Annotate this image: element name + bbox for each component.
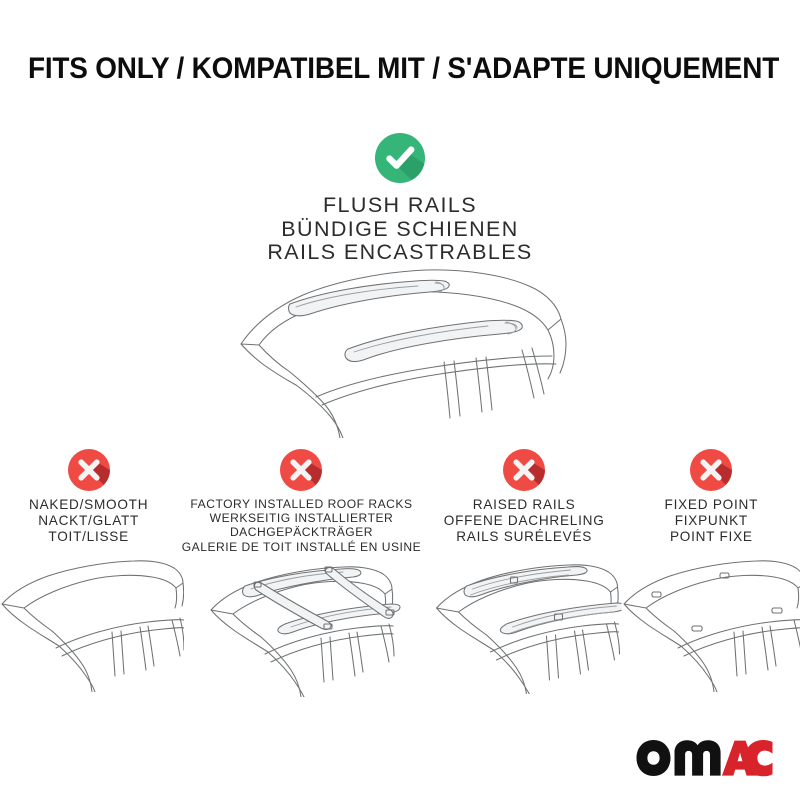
compatible-badge-wrap xyxy=(0,132,800,188)
x-circle-icon xyxy=(279,448,323,492)
incompatible-section: NAKED/SMOOTH NACKT/GLATT TOIT/LISSE xyxy=(0,448,800,698)
label-line: DACHGEPÄCKTRÄGER xyxy=(182,525,421,539)
label-line: RAISED RAILS xyxy=(444,497,605,513)
compatible-label: FLUSH RAILS BÜNDIGE SCHIENEN RAILS ENCAS… xyxy=(0,194,800,265)
incompatible-item-naked-smooth: NAKED/SMOOTH NACKT/GLATT TOIT/LISSE xyxy=(0,448,177,698)
factory-crossbars-roof-illustration xyxy=(201,552,401,697)
label-line: TOIT/LISSE xyxy=(29,529,148,545)
incompatible-item-factory-roof-racks: FACTORY INSTALLED ROOF RACKS WERKSEITIG … xyxy=(177,448,425,698)
bare-roof-illustration xyxy=(0,552,184,692)
label-line: NAKED/SMOOTH xyxy=(29,497,148,513)
x-circle-icon xyxy=(502,448,546,492)
label-line: POINT FIXE xyxy=(665,529,759,545)
label-line: RAILS SURÉLEVÉS xyxy=(444,529,605,545)
label-line: NACKT/GLATT xyxy=(29,513,148,529)
fixed-point-roof-illustration xyxy=(616,552,800,692)
check-circle-icon xyxy=(374,132,426,184)
header: FITS ONLY / KOMPATIBEL MIT / S'ADAPTE UN… xyxy=(0,52,800,86)
label-line: WERKSEITIG INSTALLIERTER xyxy=(182,511,421,525)
incompatible-label-raised-rails: RAISED RAILS OFFENE DACHRELING RAILS SUR… xyxy=(444,497,605,545)
incompatible-label-naked-smooth: NAKED/SMOOTH NACKT/GLATT TOIT/LISSE xyxy=(29,497,148,545)
x-circle-icon xyxy=(689,448,733,492)
x-circle-icon xyxy=(67,448,111,492)
omac-logo: OMAC xyxy=(634,738,774,778)
compatible-section: FLUSH RAILS BÜNDIGE SCHIENEN RAILS ENCAS… xyxy=(0,132,800,265)
compatible-label-line-2: BÜNDIGE SCHIENEN xyxy=(0,218,800,242)
label-line: FACTORY INSTALLED ROOF RACKS xyxy=(182,497,421,511)
incompatible-item-raised-rails: RAISED RAILS OFFENE DACHRELING RAILS SUR… xyxy=(426,448,623,698)
label-line: FIXPUNKT xyxy=(665,513,759,529)
label-line: FIXED POINT xyxy=(665,497,759,513)
compatible-label-line-1: FLUSH RAILS xyxy=(0,194,800,218)
page-title: FITS ONLY / KOMPATIBEL MIT / S'ADAPTE UN… xyxy=(28,52,772,86)
infographic-canvas: FITS ONLY / KOMPATIBEL MIT / S'ADAPTE UN… xyxy=(0,0,800,800)
label-line: OFFENE DACHRELING xyxy=(444,513,605,529)
omac-logo-mark: OMAC xyxy=(634,738,774,778)
flush-rails-illustration xyxy=(0,258,800,438)
incompatible-item-fixed-point: FIXED POINT FIXPUNKT POINT FIXE xyxy=(623,448,800,698)
incompatible-label-factory-roof-racks: FACTORY INSTALLED ROOF RACKS WERKSEITIG … xyxy=(182,497,421,554)
raised-rails-roof-illustration xyxy=(427,552,622,694)
incompatible-label-fixed-point: FIXED POINT FIXPUNKT POINT FIXE xyxy=(665,497,759,545)
